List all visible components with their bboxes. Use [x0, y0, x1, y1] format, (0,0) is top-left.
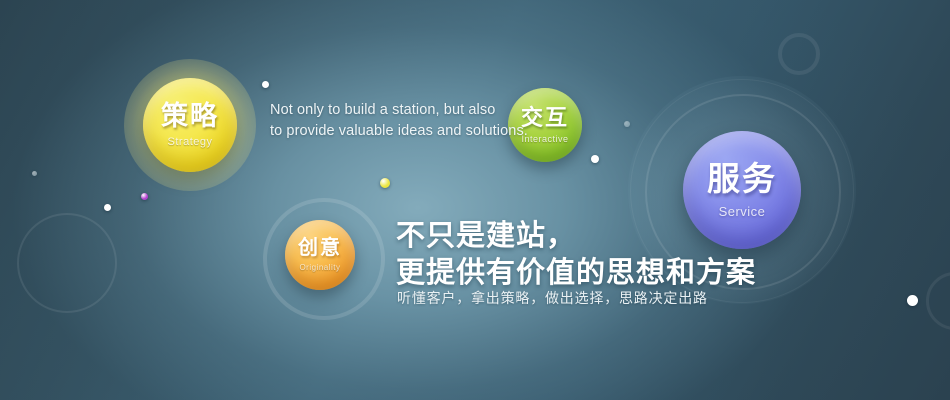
bubble-strategy-en-label: Strategy — [168, 137, 213, 148]
bubble-originality-cn-label: 创意 — [298, 238, 342, 258]
bubble-service-cn-label: 服务 — [707, 162, 777, 195]
decor-ring-left — [17, 213, 117, 313]
hero-banner: 策略 Strategy 交互 Interactive 创意 Originalit… — [0, 0, 950, 400]
english-tagline: Not only to build a station, but also to… — [270, 100, 520, 142]
decor-dot — [624, 121, 630, 127]
decor-ring-far-right — [926, 272, 950, 330]
bubble-interactive-cn-label: 交互 — [521, 107, 569, 129]
decor-dot — [104, 204, 111, 211]
bubble-strategy[interactable]: 策略 Strategy — [143, 78, 237, 172]
english-tagline-line-2: to provide valuable ideas and solutions. — [270, 121, 520, 142]
decor-dot — [380, 178, 390, 188]
decor-dot — [262, 81, 269, 88]
bubble-strategy-cn-label: 策略 — [161, 103, 219, 130]
decor-dot — [141, 193, 148, 200]
decor-dot — [591, 155, 599, 163]
bubble-originality-en-label: Originality — [299, 264, 340, 272]
decor-dot — [32, 171, 37, 176]
headline: 不只是建站， 更提供有价值的思想和方案 — [396, 218, 756, 292]
bubble-service-en-label: Service — [719, 205, 766, 218]
headline-line-1: 不只是建站， — [396, 218, 756, 255]
bubble-originality[interactable]: 创意 Originality — [285, 220, 355, 290]
decor-dot — [907, 295, 918, 306]
bubble-interactive-en-label: Interactive — [521, 135, 568, 144]
english-tagline-line-1: Not only to build a station, but also — [270, 100, 520, 121]
decor-ring-top-right — [778, 33, 820, 75]
headline-line-2: 更提供有价值的思想和方案 — [396, 255, 756, 292]
subheadline: 听懂客户，拿出策略，做出选择，思路决定出路 — [397, 288, 708, 308]
